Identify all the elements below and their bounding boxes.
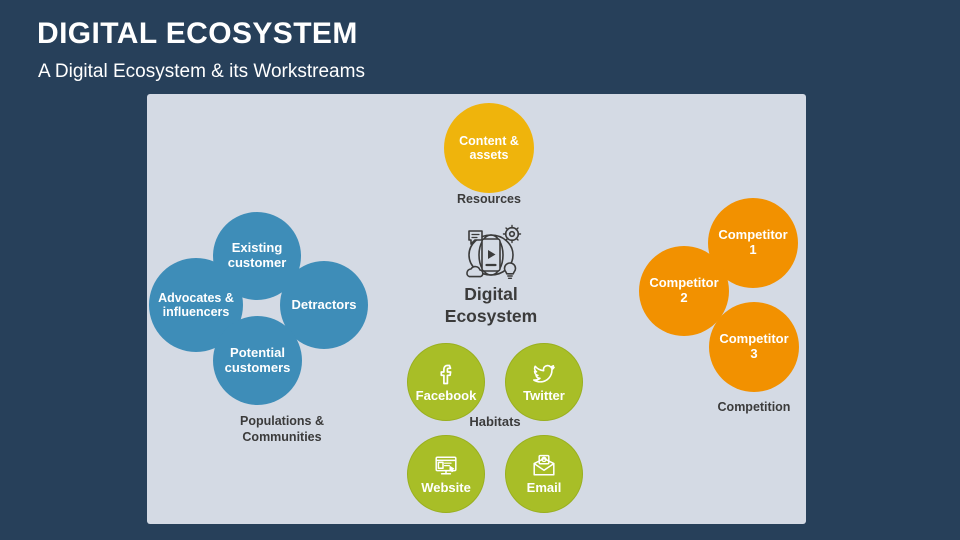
center-title: Digital Ecosystem [425,283,557,327]
node-label-line2: assets [470,148,509,162]
group-caption-resources: Resources [429,191,549,207]
node-label-line2: 1 [749,243,756,258]
group-caption-competition: Competition [694,399,814,415]
node-label-line2: customer [228,256,287,271]
node-label-line1: Potential [230,346,285,361]
group-caption-populations-line2: Communities [242,430,321,444]
group-caption-populations: Populations & Communities [197,413,367,445]
diagram-panel: Content & assets Resources [147,94,806,524]
node-label-line2: 3 [750,347,757,362]
node-website[interactable]: Website [407,435,485,513]
node-label-line1: Existing [232,241,283,256]
page-subtitle: A Digital Ecosystem & its Workstreams [38,61,365,83]
center-title-line2: Ecosystem [445,306,537,326]
node-label: Facebook [416,389,477,404]
website-icon [433,453,459,479]
node-competitor-3[interactable]: Competitor 3 [709,302,799,392]
node-label: Twitter [523,389,565,404]
facebook-icon [433,361,459,387]
node-label: Email [527,481,562,496]
node-email[interactable]: Email [505,435,583,513]
node-twitter[interactable]: Twitter [505,343,583,421]
node-label-line1: Advocates & [158,291,234,305]
node-facebook[interactable]: Facebook [407,343,485,421]
page-title: DIGITAL ECOSYSTEM [37,17,358,51]
group-caption-habitats: Habitats [435,414,555,431]
node-content-and-assets[interactable]: Content & assets [444,103,534,193]
twitter-icon [531,361,557,387]
node-label-line1: Competitor [719,332,788,347]
group-caption-populations-line1: Populations & [240,414,324,428]
node-label-line1: Competitor [649,276,718,291]
node-label-line1: Content & [459,134,519,148]
node-label-line1: Competitor [718,228,787,243]
center-title-line1: Digital [464,284,517,304]
node-label-line2: influencers [163,305,230,319]
node-label-line2: 2 [680,291,687,306]
node-label-line1: Detractors [291,298,356,313]
node-label-line2: customers [225,361,291,376]
digital-ecosystem-icon [457,220,525,288]
email-icon [531,453,557,479]
node-potential-customers[interactable]: Potential customers [213,316,302,405]
node-label: Website [421,481,471,496]
